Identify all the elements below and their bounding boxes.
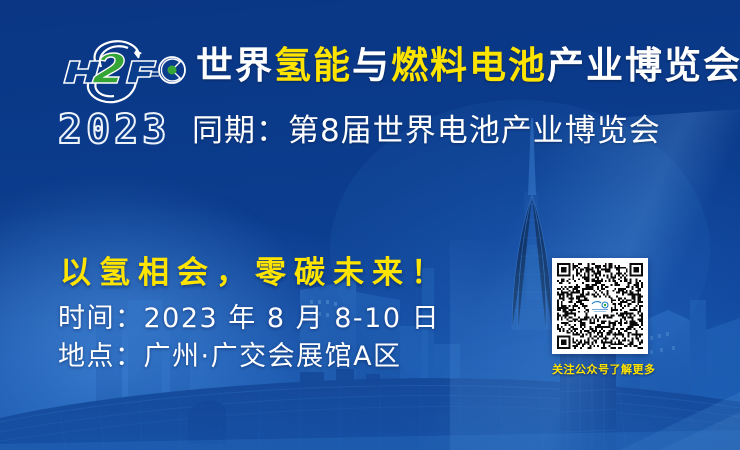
- event-place-line: 地点：广州·广交会展馆A区: [58, 343, 402, 370]
- qr-caption: 关注公众号了解更多: [552, 361, 648, 377]
- title-segment-4: 燃料电池: [391, 44, 547, 87]
- qr-block: 关注公众号了解更多: [552, 258, 648, 377]
- h2fc-logo: [52, 34, 197, 106]
- banner-subtitle: 同期：第8届世界电池产业博览会: [192, 116, 661, 147]
- event-date-line: 时间：2023 年 8 月 8-10 日: [58, 305, 440, 332]
- title-segment-5: 产业博览会: [547, 44, 740, 87]
- title-segment-2: 氢能: [274, 44, 352, 87]
- banner-title: 世界氢能与燃料电池产业博览会: [196, 47, 740, 84]
- title-segment-1: 世界: [196, 44, 274, 87]
- banner-header: 世界氢能与燃料电池产业博览会 2023 同期：第8届世界电池产业博览会: [0, 0, 740, 175]
- exhibition-banner: 世界氢能与燃料电池产业博览会 2023 同期：第8届世界电池产业博览会 以氢相会…: [0, 0, 740, 450]
- h2fc-mini-logo: [589, 298, 611, 314]
- slogan-text: 以氢相会，零碳未来！: [60, 258, 450, 289]
- title-segment-3: 与: [352, 44, 391, 87]
- qr-code[interactable]: [552, 258, 648, 354]
- year-label: 2023: [58, 110, 170, 150]
